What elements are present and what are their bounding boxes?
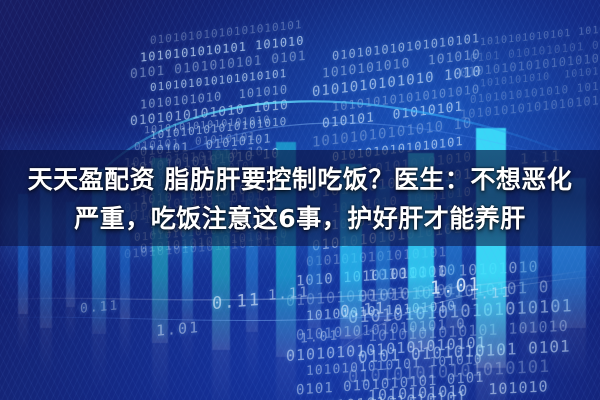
headline: 天天盈配资 脂肪肝要控制吃饭？医生：不想恶化 严重，吃饭注意这6事，护好肝才能养… (0, 160, 600, 238)
article-thumbnail-image: 010101010101010101011010101010101 101010… (0, 0, 600, 400)
headline-line-2: 严重，吃饭注意这6事，护好肝才能养肝 (0, 199, 600, 238)
headline-line-1: 天天盈配资 脂肪肝要控制吃饭？医生：不想恶化 (0, 160, 600, 199)
